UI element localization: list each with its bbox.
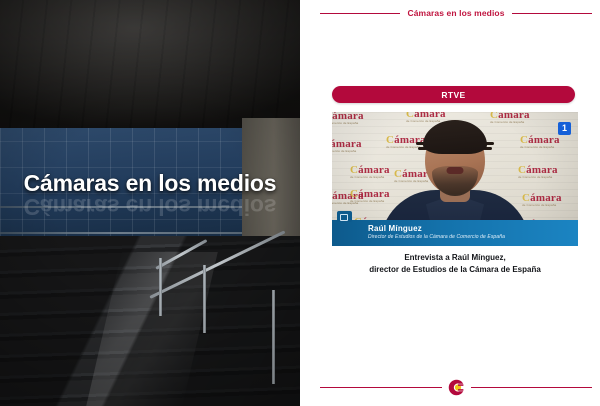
footer-rule-left	[320, 387, 442, 388]
lower-third-bar: Raúl Mínguez Director de Estudios de la …	[332, 220, 578, 246]
media-caption-line-1: Entrevista a Raúl Mínguez,	[324, 252, 586, 264]
media-caption: Entrevista a Raúl Mínguez, director de E…	[324, 252, 586, 275]
camara-logo-icon	[448, 379, 465, 396]
outlet-badge-rtve[interactable]: RTVE	[332, 86, 575, 103]
section-header-title: Cámaras en los medios	[407, 8, 504, 18]
channel-number-badge: 1	[558, 122, 571, 135]
figure-hair	[423, 120, 487, 154]
figure-mouth	[447, 167, 464, 174]
section-header-rule-left	[320, 13, 400, 14]
camera-icon	[337, 211, 352, 222]
photo-vignette	[0, 0, 300, 406]
content-panel: Cámaras en los medios RTVE Cámarade Come…	[300, 0, 600, 406]
hero-panel: Cámaras en los medios Cámaras en los med…	[0, 0, 300, 406]
footer	[320, 379, 592, 396]
backdrop-logo: Cámarade Comercio de España	[332, 138, 362, 153]
section-header: Cámaras en los medios	[320, 8, 592, 18]
lower-third-role: Director de Estudios de la Cámara de Com…	[368, 234, 505, 240]
section-header-rule-right	[512, 13, 592, 14]
backdrop-logo: Cámarade Comercio de España	[332, 112, 364, 125]
hero-title: Cámaras en los medios	[0, 170, 300, 197]
lower-third-name: Raúl Mínguez	[368, 224, 422, 233]
footer-rule-right	[471, 387, 593, 388]
page-root: Cámaras en los medios Cámaras en los med…	[0, 0, 600, 406]
outlet-badge-label: RTVE	[441, 90, 465, 100]
hero-photo	[0, 0, 300, 406]
media-caption-line-2: director de Estudios de la Cámara de Esp…	[324, 264, 586, 276]
channel-number-label: 1	[562, 124, 567, 133]
video-thumbnail[interactable]: Cámarade Comercio de España Cámarade Com…	[332, 112, 578, 246]
